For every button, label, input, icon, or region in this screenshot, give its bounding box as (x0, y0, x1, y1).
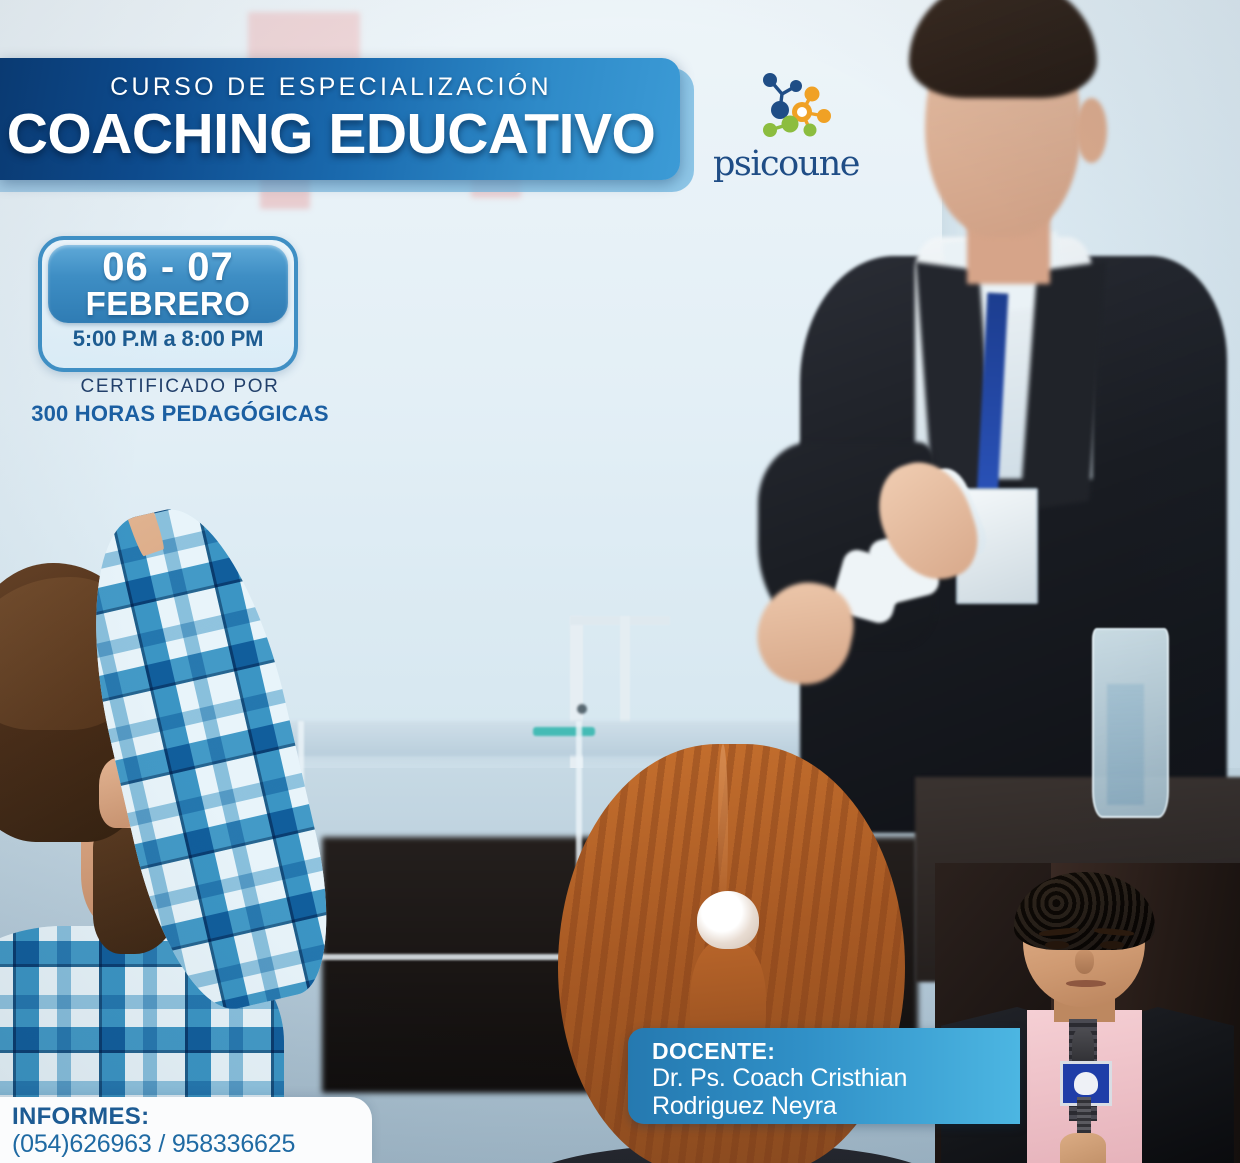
instructor-mouth (1066, 980, 1106, 987)
logo-wordmark: psicoune (706, 144, 866, 184)
date-range: 06 - 07 (102, 248, 234, 287)
title-banner: CURSO DE ESPECIALIZACIÓN COACHING EDUCAT… (0, 58, 694, 188)
course-title: COACHING EDUCATIVO (7, 106, 656, 163)
date-month: FEBRERO (86, 287, 251, 320)
instructor-label: DOCENTE: (652, 1038, 1020, 1064)
certification-label: CERTIFICADO POR (30, 374, 330, 400)
contact-label: INFORMES: (12, 1104, 372, 1130)
course-kicker: CURSO DE ESPECIALIZACIÓN (110, 75, 552, 100)
date-badge-top: 06 - 07 FEBRERO (48, 245, 288, 323)
banner-body: CURSO DE ESPECIALIZACIÓN COACHING EDUCAT… (0, 58, 680, 180)
instructor-eye (1100, 941, 1124, 949)
instructor-name-line2: Rodriguez Neyra (652, 1092, 1020, 1120)
date-badge: 06 - 07 FEBRERO 5:00 P.M a 8:00 PM (38, 236, 298, 372)
instructor-name-line1: Dr. Ps. Coach Cristhian (652, 1064, 1020, 1092)
certification-block: CERTIFICADO POR 300 HORAS PEDAGÓGICAS (30, 374, 330, 428)
psicoune-logo: psicoune (706, 72, 866, 180)
certification-hours: 300 HORAS PEDAGÓGICAS (30, 400, 330, 429)
molecule-network-icon (740, 72, 850, 142)
instructor-nose (1075, 950, 1093, 974)
contact-phones: (054)626963 / 958336625 (12, 1130, 372, 1159)
date-time: 5:00 P.M a 8:00 PM (42, 326, 294, 352)
contact-panel: INFORMES: (054)626963 / 958336625 (0, 1097, 372, 1163)
instructor-eye (1045, 941, 1069, 949)
instructor-hand (1060, 1133, 1106, 1163)
course-promo-poster: CURSO DE ESPECIALIZACIÓN COACHING EDUCAT… (0, 0, 1240, 1163)
instructor-panel: DOCENTE: Dr. Ps. Coach Cristhian Rodrigu… (628, 1028, 1020, 1124)
